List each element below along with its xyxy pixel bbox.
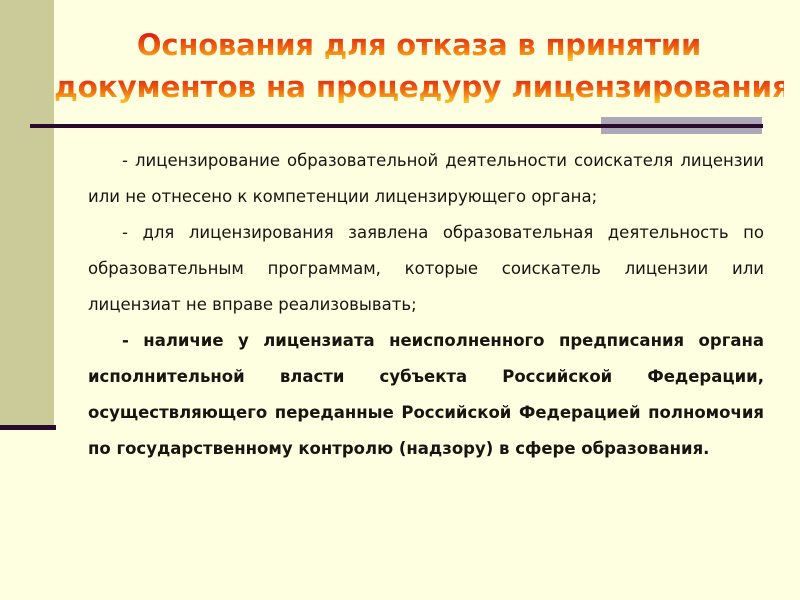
slide-body: - лицензирование образовательной деятель… xyxy=(88,143,764,467)
body-paragraph-1: - лицензирование образовательной деятель… xyxy=(88,143,764,215)
left-decorative-band xyxy=(0,0,54,425)
left-bottom-rule xyxy=(0,425,56,430)
slide-title: Основания для отказа в принятии документ… xyxy=(54,24,784,108)
slide-title-line-1: Основания для отказа в принятии xyxy=(54,24,784,66)
title-underline-rule xyxy=(30,124,763,128)
slide-canvas: Основания для отказа в принятии документ… xyxy=(0,0,800,600)
slide-title-line-2: документов на процедуру лицензирования xyxy=(54,66,784,108)
body-paragraph-3: - наличие у лицензиата неисполненного пр… xyxy=(88,323,764,467)
body-paragraph-2: - для лицензирования заявлена образовате… xyxy=(88,215,764,323)
